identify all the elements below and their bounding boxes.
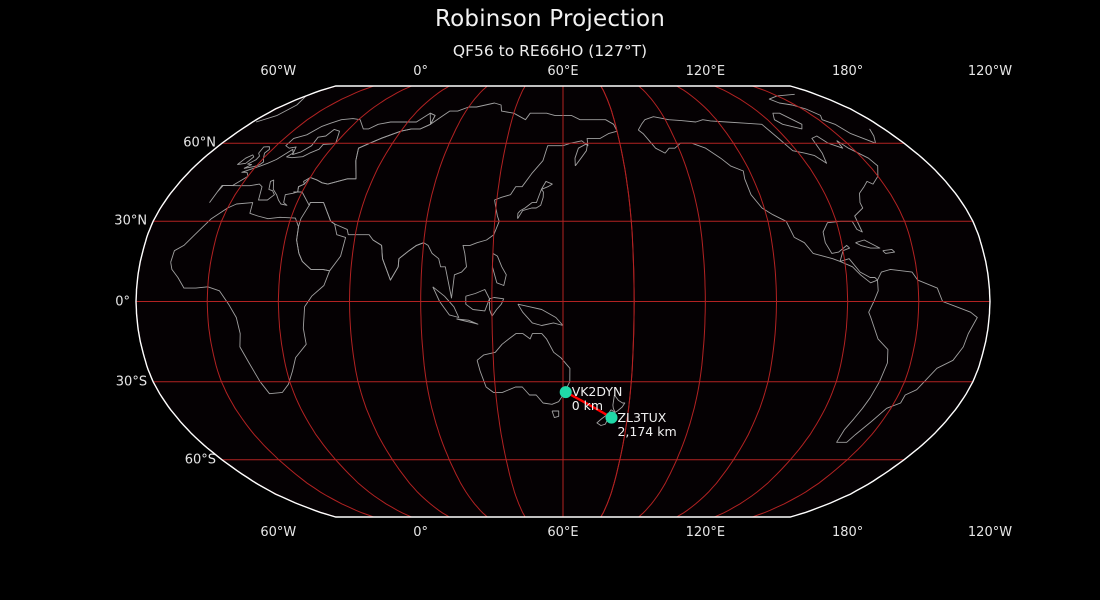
figure-canvas: Robinson Projection QF56 to RE66HO (127°… <box>0 0 1100 600</box>
lon-tick-bottom-5: 60°W <box>260 525 296 540</box>
robinson-map <box>0 0 1100 600</box>
station-distance: 2,174 km <box>617 425 676 439</box>
lat-tick-2: 0° <box>115 294 130 309</box>
station-distance: 0 km <box>572 399 623 413</box>
lat-tick-4: 60°S <box>185 452 216 467</box>
lon-tick-bottom-1: 60°E <box>547 525 578 540</box>
station-marker-zl3tux[interactable] <box>606 412 618 424</box>
lon-tick-bottom-0: 0° <box>413 525 428 540</box>
lat-tick-3: 30°S <box>116 374 147 389</box>
lon-tick-bottom-4: 120°W <box>968 525 1012 540</box>
lon-tick-top-0: 0° <box>413 64 428 79</box>
lon-tick-top-2: 120°E <box>686 64 726 79</box>
lon-tick-bottom-2: 120°E <box>686 525 726 540</box>
lon-tick-top-4: 120°W <box>968 64 1012 79</box>
lat-tick-0: 60°N <box>183 136 216 151</box>
lat-tick-1: 30°N <box>114 214 147 229</box>
station-callsign: ZL3TUX <box>617 411 676 425</box>
station-label-vk2dyn: VK2DYN0 km <box>572 385 623 413</box>
lon-tick-top-5: 60°W <box>260 64 296 79</box>
station-callsign: VK2DYN <box>572 385 623 399</box>
station-label-zl3tux: ZL3TUX2,174 km <box>617 411 676 439</box>
lon-tick-top-3: 180° <box>832 64 863 79</box>
station-marker-vk2dyn[interactable] <box>560 386 572 398</box>
lon-tick-top-1: 60°E <box>547 64 578 79</box>
lon-tick-bottom-3: 180° <box>832 525 863 540</box>
map-container[interactable] <box>0 0 1100 600</box>
